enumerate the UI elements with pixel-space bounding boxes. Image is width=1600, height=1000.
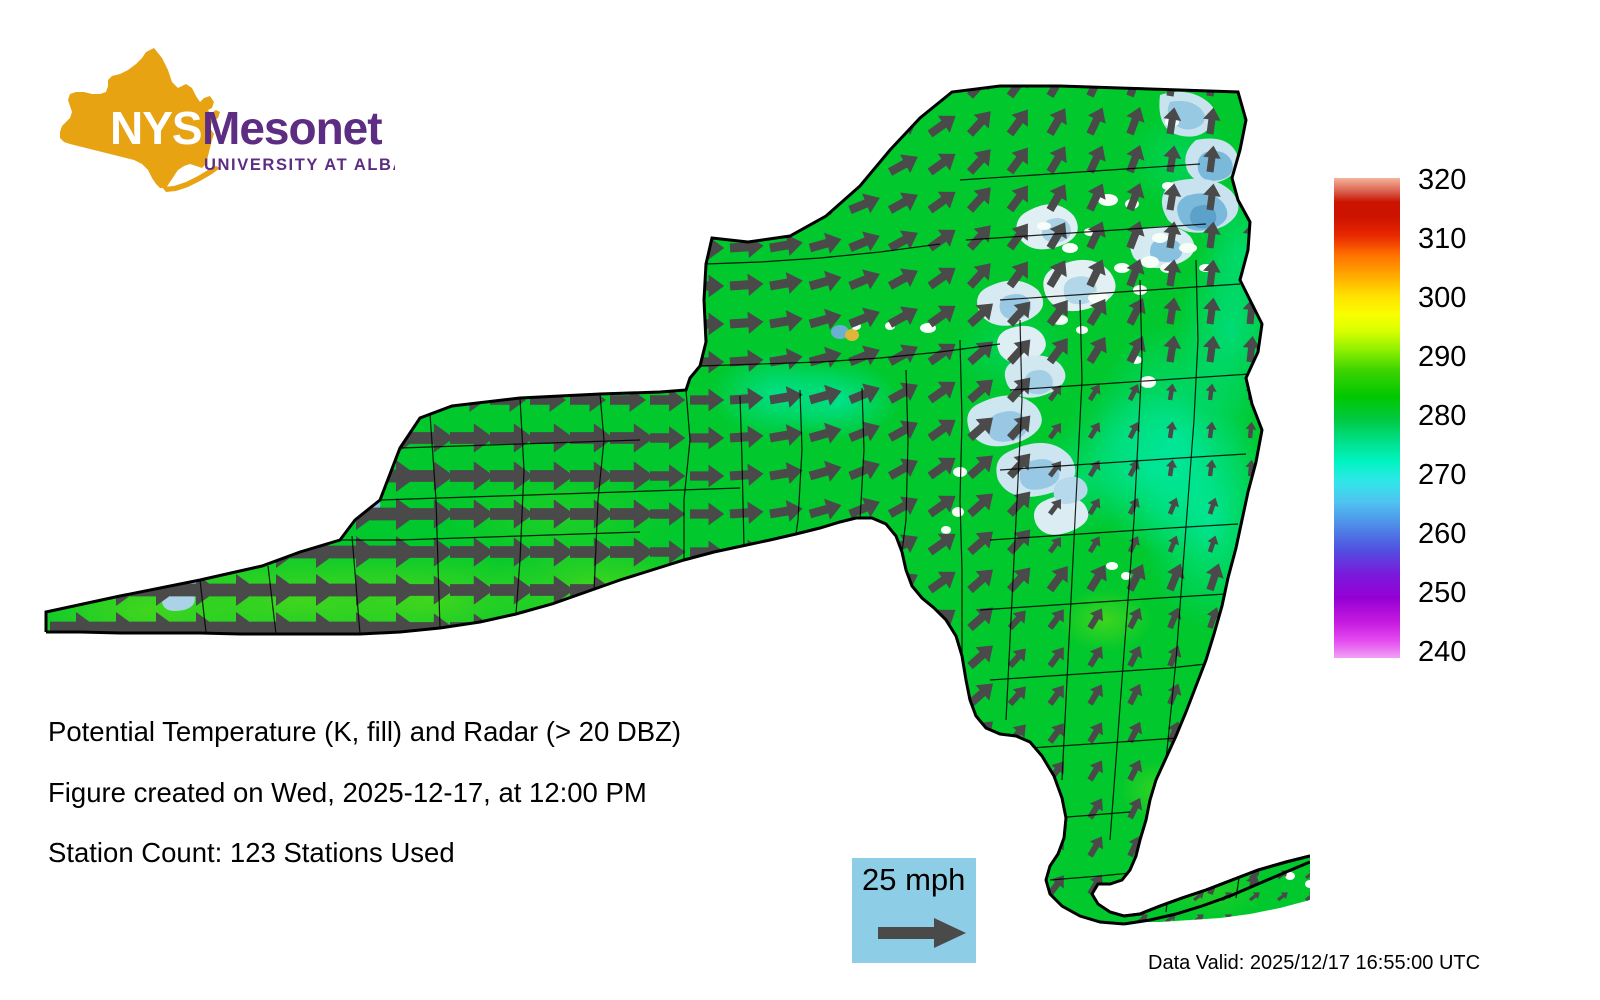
colorbar-tick-300: 300 (1418, 284, 1466, 313)
colorbar-tick-240: 240 (1418, 638, 1466, 667)
logo-nys-text: NYS (110, 102, 202, 154)
logo-subtitle-text: UNIVERSITY AT ALBANY (204, 156, 395, 174)
colorbar-tick-290: 290 (1418, 343, 1466, 372)
colorbar-tick-280: 280 (1418, 402, 1466, 431)
colorbar-gradient (1334, 178, 1400, 658)
colorbar-tick-260: 260 (1418, 520, 1466, 549)
nys-mesonet-logo: NYS Mesonet UNIVERSITY AT ALBANY (50, 48, 395, 198)
figure-canvas: NYS Mesonet UNIVERSITY AT ALBANY (0, 0, 1600, 1000)
colorbar-tick-250: 250 (1418, 579, 1466, 608)
data-valid-timestamp: Data Valid: 2025/12/17 16:55:00 UTC (1148, 952, 1480, 975)
colorbar-tick-270: 270 (1418, 461, 1466, 490)
caption-created: Figure created on Wed, 2025-12-17, at 12… (48, 779, 888, 807)
caption-title: Potential Temperature (K, fill) and Rada… (48, 718, 888, 746)
wind-speed-legend: 25 mph (852, 858, 976, 963)
wind-speed-legend-label: 25 mph (862, 864, 965, 895)
wind-reference-arrow-icon (878, 916, 966, 950)
colorbar-tick-labels: 320 310 300 290 280 270 260 250 240 (1416, 160, 1536, 680)
colorbar-tick-310: 310 (1418, 225, 1466, 254)
logo-mesonet-text: Mesonet (202, 102, 382, 154)
caption-station-count: Station Count: 123 Stations Used (48, 839, 888, 867)
caption-block: Potential Temperature (K, fill) and Rada… (48, 718, 888, 900)
temperature-colorbar[interactable] (1334, 178, 1400, 658)
colorbar-tick-320: 320 (1418, 166, 1466, 195)
